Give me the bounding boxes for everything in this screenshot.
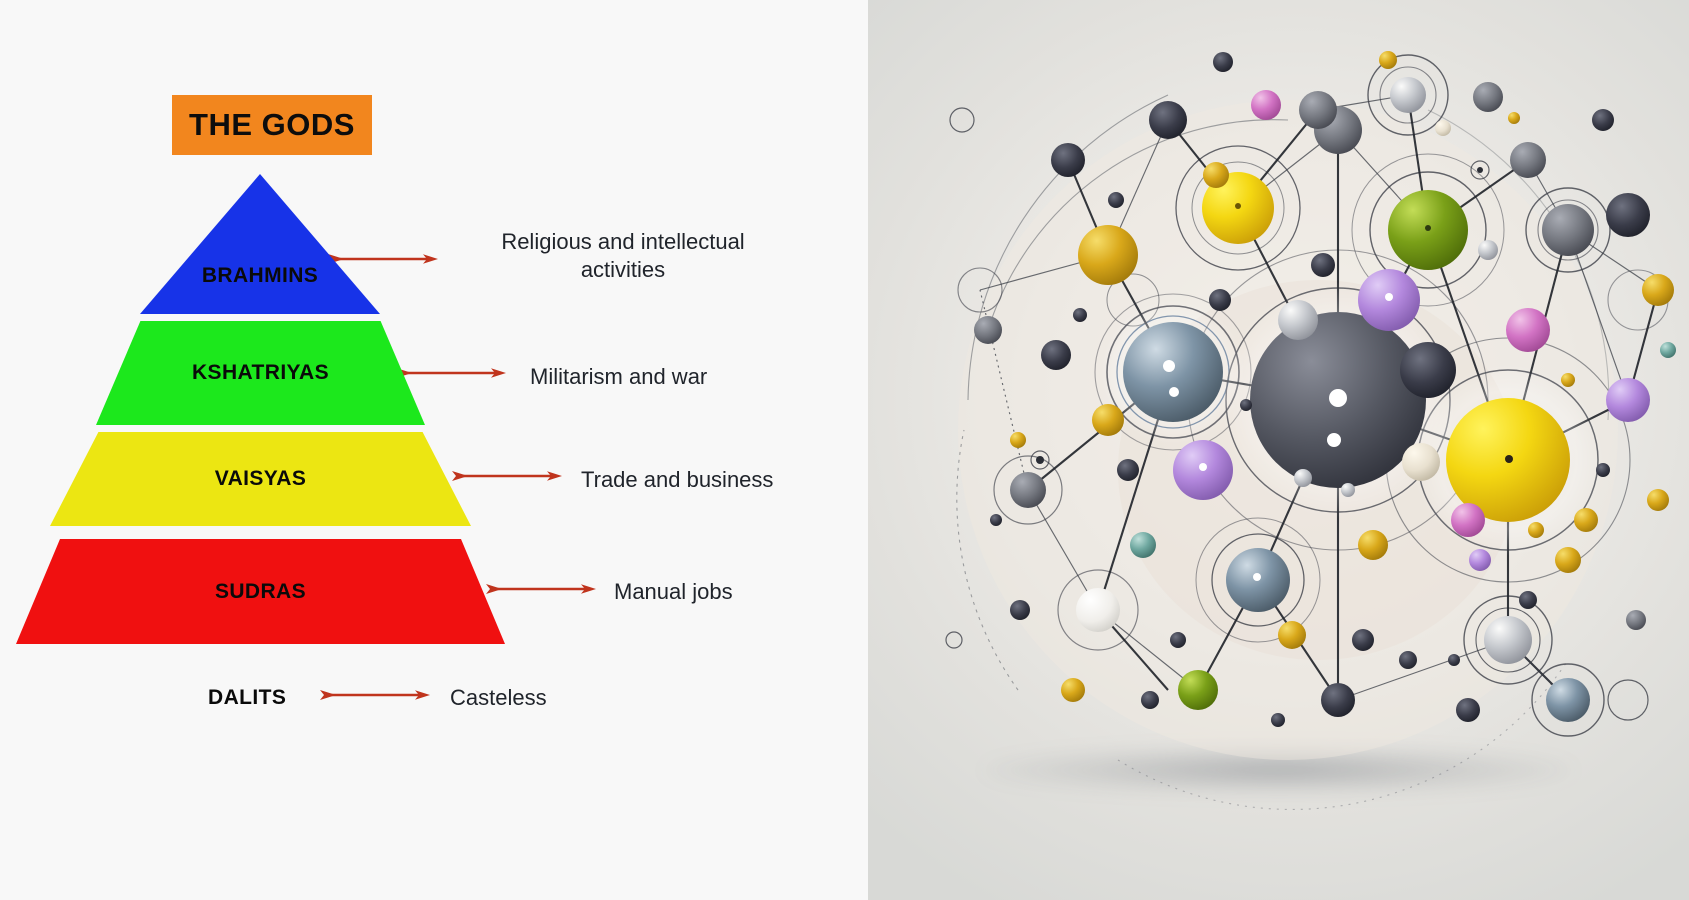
arrow-brahmins: [328, 251, 438, 269]
callout-line: Religious and intellectual: [478, 228, 768, 256]
sudras-label: SUDRAS: [215, 580, 306, 604]
pyramid-graphic: BRAHMINS KSHATRIYAS VAISYAS SUDRAS: [0, 0, 868, 900]
arrow-kshatriyas: [396, 365, 506, 383]
arrow-sudras: [486, 581, 596, 599]
network-graphic: [868, 0, 1689, 900]
brahmins-label: BRAHMINS: [202, 264, 318, 288]
brahmins-triangle-shape: [140, 174, 380, 314]
arrow-icon: [396, 365, 506, 381]
pyramid-layer-brahmins: BRAHMINS: [140, 174, 380, 314]
callout-brahmins: Religious and intellectual activities: [478, 228, 768, 284]
arrow-icon: [486, 581, 596, 597]
arrow-vaisyas: [452, 468, 562, 486]
pyramid-layer-vaisyas: VAISYAS: [50, 432, 471, 526]
dalits-label: DALITS: [208, 686, 286, 710]
abstract-network-panel: [868, 0, 1689, 900]
callout-vaisyas: Trade and business: [581, 466, 881, 494]
arrow-icon: [320, 687, 430, 703]
pyramid-layer-sudras: SUDRAS: [16, 539, 505, 644]
caste-pyramid-panel: THE GODS BRAHMINS KSHATRIYAS VAISYAS SUD: [0, 0, 868, 900]
vaisyas-label: VAISYAS: [215, 467, 307, 491]
arrow-icon: [452, 468, 562, 484]
callout-dalits: Casteless: [450, 684, 750, 712]
composite-image: THE GODS BRAHMINS KSHATRIYAS VAISYAS SUD: [0, 0, 1689, 900]
pyramid-layer-kshatriyas: KSHATRIYAS: [96, 321, 425, 425]
callout-line: Militarism and war: [530, 363, 830, 391]
callout-line: Casteless: [450, 684, 750, 712]
arrow-icon: [328, 251, 438, 267]
arrow-dalits: [320, 687, 430, 705]
callout-line: activities: [478, 256, 768, 284]
callout-kshatriyas: Militarism and war: [530, 363, 830, 391]
callout-line: Trade and business: [581, 466, 881, 494]
kshatriyas-label: KSHATRIYAS: [192, 361, 329, 385]
